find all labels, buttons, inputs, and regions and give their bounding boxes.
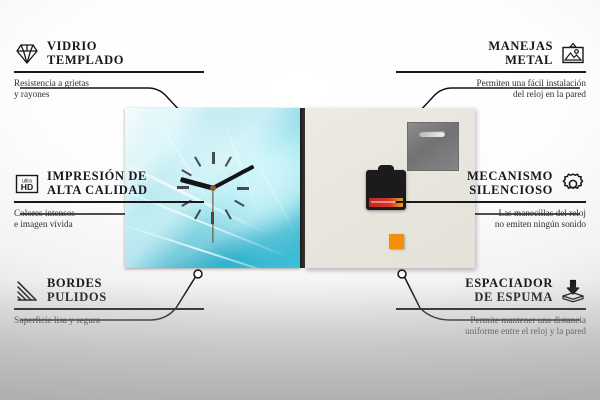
feature-divider	[14, 308, 204, 310]
clock-second-hand	[212, 188, 213, 243]
feature-title: MECANISMOSILENCIOSO	[467, 170, 553, 197]
feature-manejas-metal: MANEJASMETAL Permiten una fácil instalac…	[396, 40, 586, 101]
feature-title: MANEJASMETAL	[488, 40, 553, 67]
clock-center-pin	[210, 185, 216, 191]
feature-bordes-pulidos: BORDESPULIDOS Superficie lisa y segura	[14, 277, 204, 326]
feature-impresion-alta-calidad: ultra HD IMPRESIÓN DEALTA CALIDAD Colore…	[14, 170, 204, 231]
gear-icon	[560, 171, 586, 197]
feature-divider	[14, 201, 204, 203]
feature-subtitle: Superficie lisa y segura	[14, 315, 204, 327]
feature-divider	[396, 201, 586, 203]
feature-title: IMPRESIÓN DEALTA CALIDAD	[47, 170, 148, 197]
feature-subtitle: Permite mantener una distanciauniforme e…	[396, 315, 586, 338]
foam-spacer-icon	[560, 278, 586, 304]
feature-divider	[14, 71, 204, 73]
diamond-icon	[14, 41, 40, 67]
feature-subtitle: Resistencia a grietasy rayones	[14, 78, 204, 101]
picture-hanger-icon	[560, 41, 586, 67]
feature-vidrio-templado: VIDRIOTEMPLADO Resistencia a grietasy ra…	[14, 40, 204, 101]
mechanism-hook	[378, 165, 394, 172]
feature-title: VIDRIOTEMPLADO	[47, 40, 124, 67]
feature-divider	[396, 308, 586, 310]
feature-espaciador-espuma: ESPACIADORDE ESPUMA Permite mantener una…	[396, 277, 586, 338]
feature-title: BORDESPULIDOS	[47, 277, 107, 304]
hanger-slot	[419, 131, 445, 137]
metal-hanger-plate	[407, 122, 459, 171]
svg-text:HD: HD	[21, 182, 33, 192]
ultra-hd-icon: ultra HD	[14, 171, 40, 197]
infographic-canvas: VIDRIOTEMPLADO Resistencia a grietasy ra…	[0, 0, 600, 400]
feature-title: ESPACIADORDE ESPUMA	[465, 277, 553, 304]
feature-subtitle: Permiten una fácil instalacióndel reloj …	[396, 78, 586, 101]
feature-subtitle: Las manecillas del relojno emiten ningún…	[396, 208, 586, 231]
feature-subtitle: Colores intensose imagen vívida	[14, 208, 204, 231]
feature-divider	[396, 71, 586, 73]
foam-spacer	[389, 234, 404, 249]
feature-mecanismo-silencioso: MECANISMOSILENCIOSO Las manecillas del r…	[396, 170, 586, 231]
polished-edges-icon	[14, 278, 40, 304]
